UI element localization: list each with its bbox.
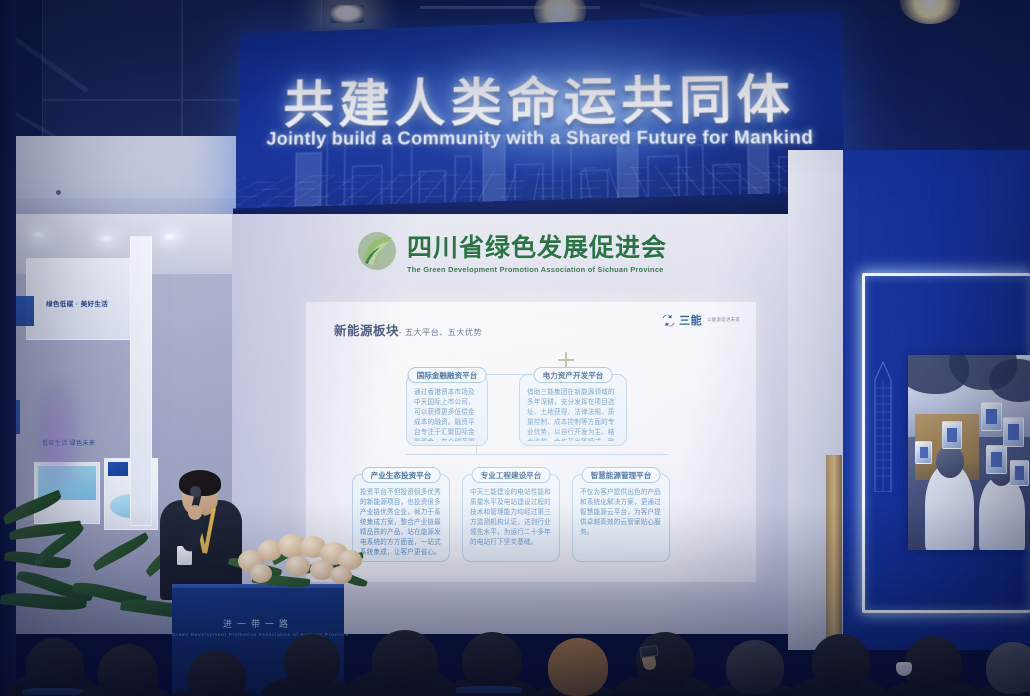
platform-box-power-asset: 电力资产开发平台 借助三能集团在新能源领域的多年深耕，充分发挥在项目选址、土地获… xyxy=(519,374,627,446)
platform-box-body: 不仅为客户提供出色的产品和系统化解决方案，更通过智慧能源云平台，为客户提供卓越高… xyxy=(580,488,662,557)
solar-lamp-icon xyxy=(981,402,1002,431)
platform-box-body: 投资平台不但投资很多优秀的新能源项目，也投资很多产业链优秀企业，倾力于系统集成方… xyxy=(360,488,442,557)
audience-head xyxy=(284,634,340,688)
microphone-head xyxy=(190,486,201,497)
slide-title-main: 新能源板块 xyxy=(334,324,399,338)
speaker-hand xyxy=(188,505,202,520)
audience-head xyxy=(904,636,962,692)
lamp-panel xyxy=(920,447,928,459)
left-dark-pillar xyxy=(0,0,16,696)
platform-box-caption: 国际金融融资平台 xyxy=(408,367,487,383)
flower-arrangement xyxy=(232,528,362,600)
sanneng-brand-logo: 三能 以能源促进未来 xyxy=(661,312,740,328)
platform-box-caption: 产业生态投资平台 xyxy=(362,467,441,483)
audience-head-blonde xyxy=(548,638,608,696)
photo-child-body xyxy=(979,476,1025,550)
slide-title-sub: - 五大平台、五大优势 xyxy=(399,328,482,337)
lamp-panel xyxy=(1015,466,1024,479)
platform-box-body: 中天三能建设的电站性能和质量水平及电站建设过程的技术和管理能力均经过第三方监测机… xyxy=(470,488,552,557)
audience-collar xyxy=(456,686,522,693)
solar-lamp-icon xyxy=(915,441,932,464)
connector-line xyxy=(406,454,668,455)
platform-box-smart-energy-management: 智慧能源管理平台 不仅为客户提供出色的产品和系统化解决方案，更通过智慧能源云平台… xyxy=(572,474,670,562)
solar-lamp-icon xyxy=(1010,460,1028,485)
platform-box-caption: 专业工程建设平台 xyxy=(472,467,551,483)
neighbor-pillar-panel xyxy=(130,236,152,526)
lamp-panel xyxy=(1008,424,1019,439)
purple-light-glow xyxy=(34,380,80,490)
association-name-en: The Green Development Promotion Associat… xyxy=(407,265,667,274)
solar-lamp-icon xyxy=(942,421,962,448)
lamp-panel xyxy=(986,409,997,424)
platform-box-international-finance: 国际金融融资平台 通过香港资本市场及中天国际上市公司，可以获得更多低偿金成本的融… xyxy=(406,374,488,446)
neighbor-badge xyxy=(108,462,128,476)
audience-head xyxy=(26,638,84,694)
platform-box-industry-eco-investment: 产业生态投资平台 投资平台不但投资很多优秀的新能源项目，也投资很多产业链优秀企业… xyxy=(352,474,450,562)
ceiling-spotlight xyxy=(330,5,364,23)
recycle-arrows-icon xyxy=(661,313,676,328)
banner-headline-en: Jointly build a Community with a Shared … xyxy=(238,126,844,150)
slide-crosshair-marker xyxy=(558,352,574,368)
association-name-cn: 四川省绿色发展促进会 xyxy=(407,228,667,264)
audience-collar xyxy=(22,688,84,695)
brand-tagline: 以能源促进未来 xyxy=(707,317,740,323)
audience-head xyxy=(462,632,522,690)
fascia-band xyxy=(0,136,236,202)
ceiling-truss-panel xyxy=(42,0,182,100)
leaf-sphere-logo-icon xyxy=(356,230,398,272)
fascia-bolt xyxy=(56,190,61,195)
platform-box-caption: 智慧能源管理平台 xyxy=(582,467,661,483)
audience-head xyxy=(372,630,438,692)
audience-head xyxy=(188,650,246,696)
solar-lamp-icon xyxy=(1003,417,1024,446)
solar-lantern-photo xyxy=(908,355,1030,550)
audience-head xyxy=(98,644,158,696)
brand-name-cn: 三能 xyxy=(679,312,702,328)
platform-box-engineering-construction: 专业工程建设平台 中天三能建设的电站性能和质量水平及电站建设过程的技术和管理能力… xyxy=(462,474,560,562)
lamp-panel xyxy=(947,428,957,442)
platform-box-body: 借助三能集团在新能源领域的多年深耕，充分发挥在项目选址、土地获得、法律法规、质量… xyxy=(527,388,619,441)
neighbor-sign-text: 绿色低碳 · 美好生活 xyxy=(46,298,108,308)
photo-child-head xyxy=(936,445,964,478)
audience-head xyxy=(812,634,870,690)
association-logo-block: 四川省绿色发展促进会 The Green Development Promoti… xyxy=(356,226,696,276)
audience-head xyxy=(726,640,784,694)
booth-spotlight xyxy=(98,234,114,243)
lamp-panel xyxy=(991,452,1002,467)
audience xyxy=(0,612,1030,696)
projected-slide: 新能源板块- 五大平台、五大优势 三能 以能源促进未来 国际金融融资平台 xyxy=(306,302,756,582)
booth-spotlight xyxy=(162,232,178,241)
audience-head xyxy=(986,642,1030,694)
slide-title: 新能源板块- 五大平台、五大优势 xyxy=(334,320,482,339)
platform-box-caption: 电力资产开发平台 xyxy=(534,367,613,383)
solar-lamp-icon xyxy=(986,445,1007,474)
platform-box-body: 通过香港资本市场及中天国际上市公司，可以获得更多低偿金成本的融资。融资平台专注于… xyxy=(414,388,480,441)
ceiling-spotlight xyxy=(900,0,960,24)
expo-booth-scene: 共建人类命运共同体 Jointly build a Community with… xyxy=(0,0,1030,696)
booth-spotlight xyxy=(30,230,46,239)
